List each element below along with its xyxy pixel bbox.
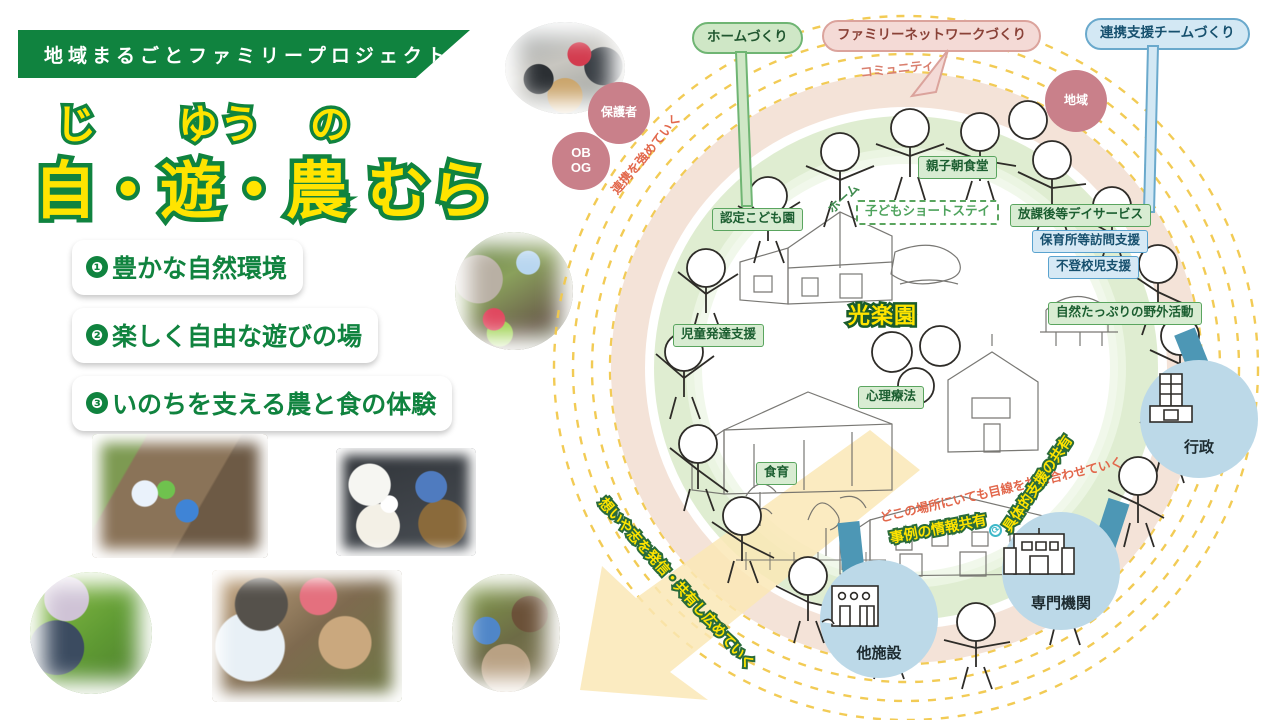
institution-label-government: 行政 xyxy=(1184,439,1214,456)
list-item: ❷ 楽しく自由な遊びの場 xyxy=(72,308,378,363)
service-tag-nursery-visit-support[interactable]: 保育所等訪問支援 xyxy=(1032,230,1148,253)
institution-circle-government[interactable]: 行政 xyxy=(1140,360,1258,478)
bubble-family-network[interactable]: ファミリーネットワークづくり xyxy=(822,20,1041,52)
bullet-number-1: ❶ xyxy=(86,256,108,278)
bubble-home-building[interactable]: ホームづくり xyxy=(692,22,803,54)
list-item: ❶ 豊かな自然環境 xyxy=(72,240,303,295)
list-item: ❸ いのちを支える農と食の体験 xyxy=(72,376,452,431)
school-meal-photo xyxy=(336,448,476,556)
project-ribbon: 地域まるごとファミリープロジェクト xyxy=(18,30,470,78)
children-trail-photo xyxy=(92,434,268,558)
service-tag-food-education[interactable]: 食育 xyxy=(756,462,797,485)
government-building-icon xyxy=(1140,370,1202,432)
institution-label-other: 他施設 xyxy=(856,645,901,662)
children-mud-play-photo xyxy=(212,570,402,702)
stakeholder-circle-guardians[interactable]: 保護者 xyxy=(588,82,650,144)
service-tag-child-short-stay[interactable]: 子どもショートステイ xyxy=(856,200,999,225)
rice-planting-adult-photo xyxy=(30,572,152,694)
service-tag-certified-kindergarten[interactable]: 認定こども園 xyxy=(712,208,803,231)
bullet-number-3: ❸ xyxy=(86,392,108,414)
bullet-text-1: 豊かな自然環境 xyxy=(112,249,287,285)
bullet-text-2: 楽しく自由な遊びの場 xyxy=(112,317,362,353)
bullet-text-3: いのちを支える農と食の体験 xyxy=(112,385,436,421)
other-facility-building-icon xyxy=(820,580,890,632)
service-tag-child-development-support[interactable]: 児童発達支援 xyxy=(673,324,764,347)
service-tag-truancy-support[interactable]: 不登校児支援 xyxy=(1048,256,1139,279)
institution-label-specialized: 専門機関 xyxy=(1031,595,1091,612)
feature-list: ❶ 豊かな自然環境 ❷ 楽しく自由な遊びの場 ❸ いのちを支える農と食の体験 xyxy=(72,240,472,444)
hub-name-kourakuen: 光楽園 xyxy=(848,298,917,330)
service-tag-after-school-day-service[interactable]: 放課後等デイサービス xyxy=(1010,204,1151,227)
infographic-root: 地域まるごとファミリープロジェクト じ ゆう の 自・遊・農 むら ❶ 豊かな自… xyxy=(0,0,1280,720)
page-title: 自・遊・農 むら xyxy=(34,140,493,230)
ribbon-label: 地域まるごとファミリープロジェクト xyxy=(44,41,451,68)
institution-circle-other[interactable]: 他施設 xyxy=(820,560,938,678)
service-tag-parent-child-breakfast[interactable]: 親子朝食堂 xyxy=(918,156,997,179)
service-tag-psychotherapy[interactable]: 心理療法 xyxy=(858,386,924,409)
institution-circle-specialized[interactable]: 専門機関 xyxy=(1002,512,1120,630)
service-tag-outdoor-nature-activity[interactable]: 自然たっぷりの野外活動 xyxy=(1048,302,1202,325)
stakeholder-circle-ob-og[interactable]: OB OG xyxy=(552,132,610,190)
community-diagram: ホームづくり ファミリーネットワークづくり 連携支援チームづくり コミュニティ … xyxy=(540,0,1280,720)
bubble-support-team[interactable]: 連携支援チームづくり xyxy=(1085,18,1250,50)
bullet-number-2: ❷ xyxy=(86,324,108,346)
stakeholder-circle-community[interactable]: 地域 xyxy=(1045,70,1107,132)
